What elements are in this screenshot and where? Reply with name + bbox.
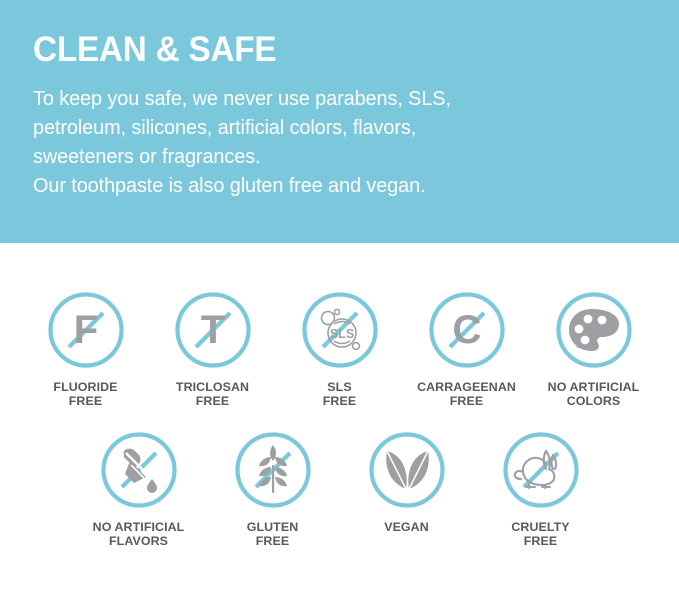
- svg-text:T: T: [200, 308, 224, 352]
- wheat-icon: [234, 431, 312, 509]
- hero-line-3: sweeteners or fragrances.: [33, 142, 660, 171]
- badge-sls-bubbles: SLSSLS FREE: [276, 291, 403, 409]
- letter-f-icon: F: [47, 291, 125, 369]
- svg-text:F: F: [73, 308, 97, 352]
- page-title: CLEAN & SAFE: [33, 30, 647, 70]
- sls-bubbles-icon: SLS: [301, 291, 379, 369]
- hero-line-1: To keep you safe, we never use parabens,…: [33, 84, 660, 113]
- badge-rabbit: CRUELTY FREE: [474, 431, 608, 549]
- badge-letter-c: CCARRAGEENAN FREE: [403, 291, 530, 409]
- badge-letter-f: FFLUORIDE FREE: [22, 291, 149, 409]
- rabbit-icon: [502, 431, 580, 509]
- badge-label: SLS FREE: [323, 380, 356, 409]
- badge-label: GLUTEN FREE: [247, 520, 299, 549]
- badge-label: FLUORIDE FREE: [53, 380, 117, 409]
- badge-label: CARRAGEENAN FREE: [417, 380, 516, 409]
- badge-label: VEGAN: [384, 520, 429, 534]
- badge-label: CRUELTY FREE: [511, 520, 569, 549]
- paint-palette-icon: [555, 291, 633, 369]
- badge-grid: FFLUORIDE FREETTRICLOSAN FREESLSSLS FREE…: [0, 243, 679, 608]
- hero-banner: CLEAN & SAFE To keep you safe, we never …: [0, 0, 679, 243]
- badge-dropper: NO ARTIFICIAL FLAVORS: [72, 431, 206, 549]
- leaves-icon: [368, 431, 446, 509]
- badge-leaves: VEGAN: [340, 431, 474, 534]
- clean-and-safe-infographic: CLEAN & SAFE To keep you safe, we never …: [0, 0, 679, 608]
- badge-label: NO ARTIFICIAL FLAVORS: [93, 520, 185, 549]
- badge-row-primary: FFLUORIDE FREETTRICLOSAN FREESLSSLS FREE…: [0, 243, 679, 409]
- hero-description: To keep you safe, we never use parabens,…: [33, 84, 679, 200]
- badge-paint-palette: NO ARTIFICIAL COLORS: [530, 291, 657, 409]
- svg-text:SLS: SLS: [329, 327, 353, 341]
- badge-label: TRICLOSAN FREE: [176, 380, 249, 409]
- dropper-icon: [100, 431, 178, 509]
- hero-line-4: Our toothpaste is also gluten free and v…: [33, 171, 660, 200]
- svg-text:C: C: [452, 308, 481, 352]
- letter-c-icon: C: [428, 291, 506, 369]
- letter-t-icon: T: [174, 291, 252, 369]
- badge-row-secondary: NO ARTIFICIAL FLAVORSGLUTEN FREEVEGANCRU…: [0, 409, 679, 549]
- hero-line-2: petroleum, silicones, artificial colors,…: [33, 113, 660, 142]
- badge-wheat: GLUTEN FREE: [206, 431, 340, 549]
- badge-letter-t: TTRICLOSAN FREE: [149, 291, 276, 409]
- badge-label: NO ARTIFICIAL COLORS: [548, 380, 640, 409]
